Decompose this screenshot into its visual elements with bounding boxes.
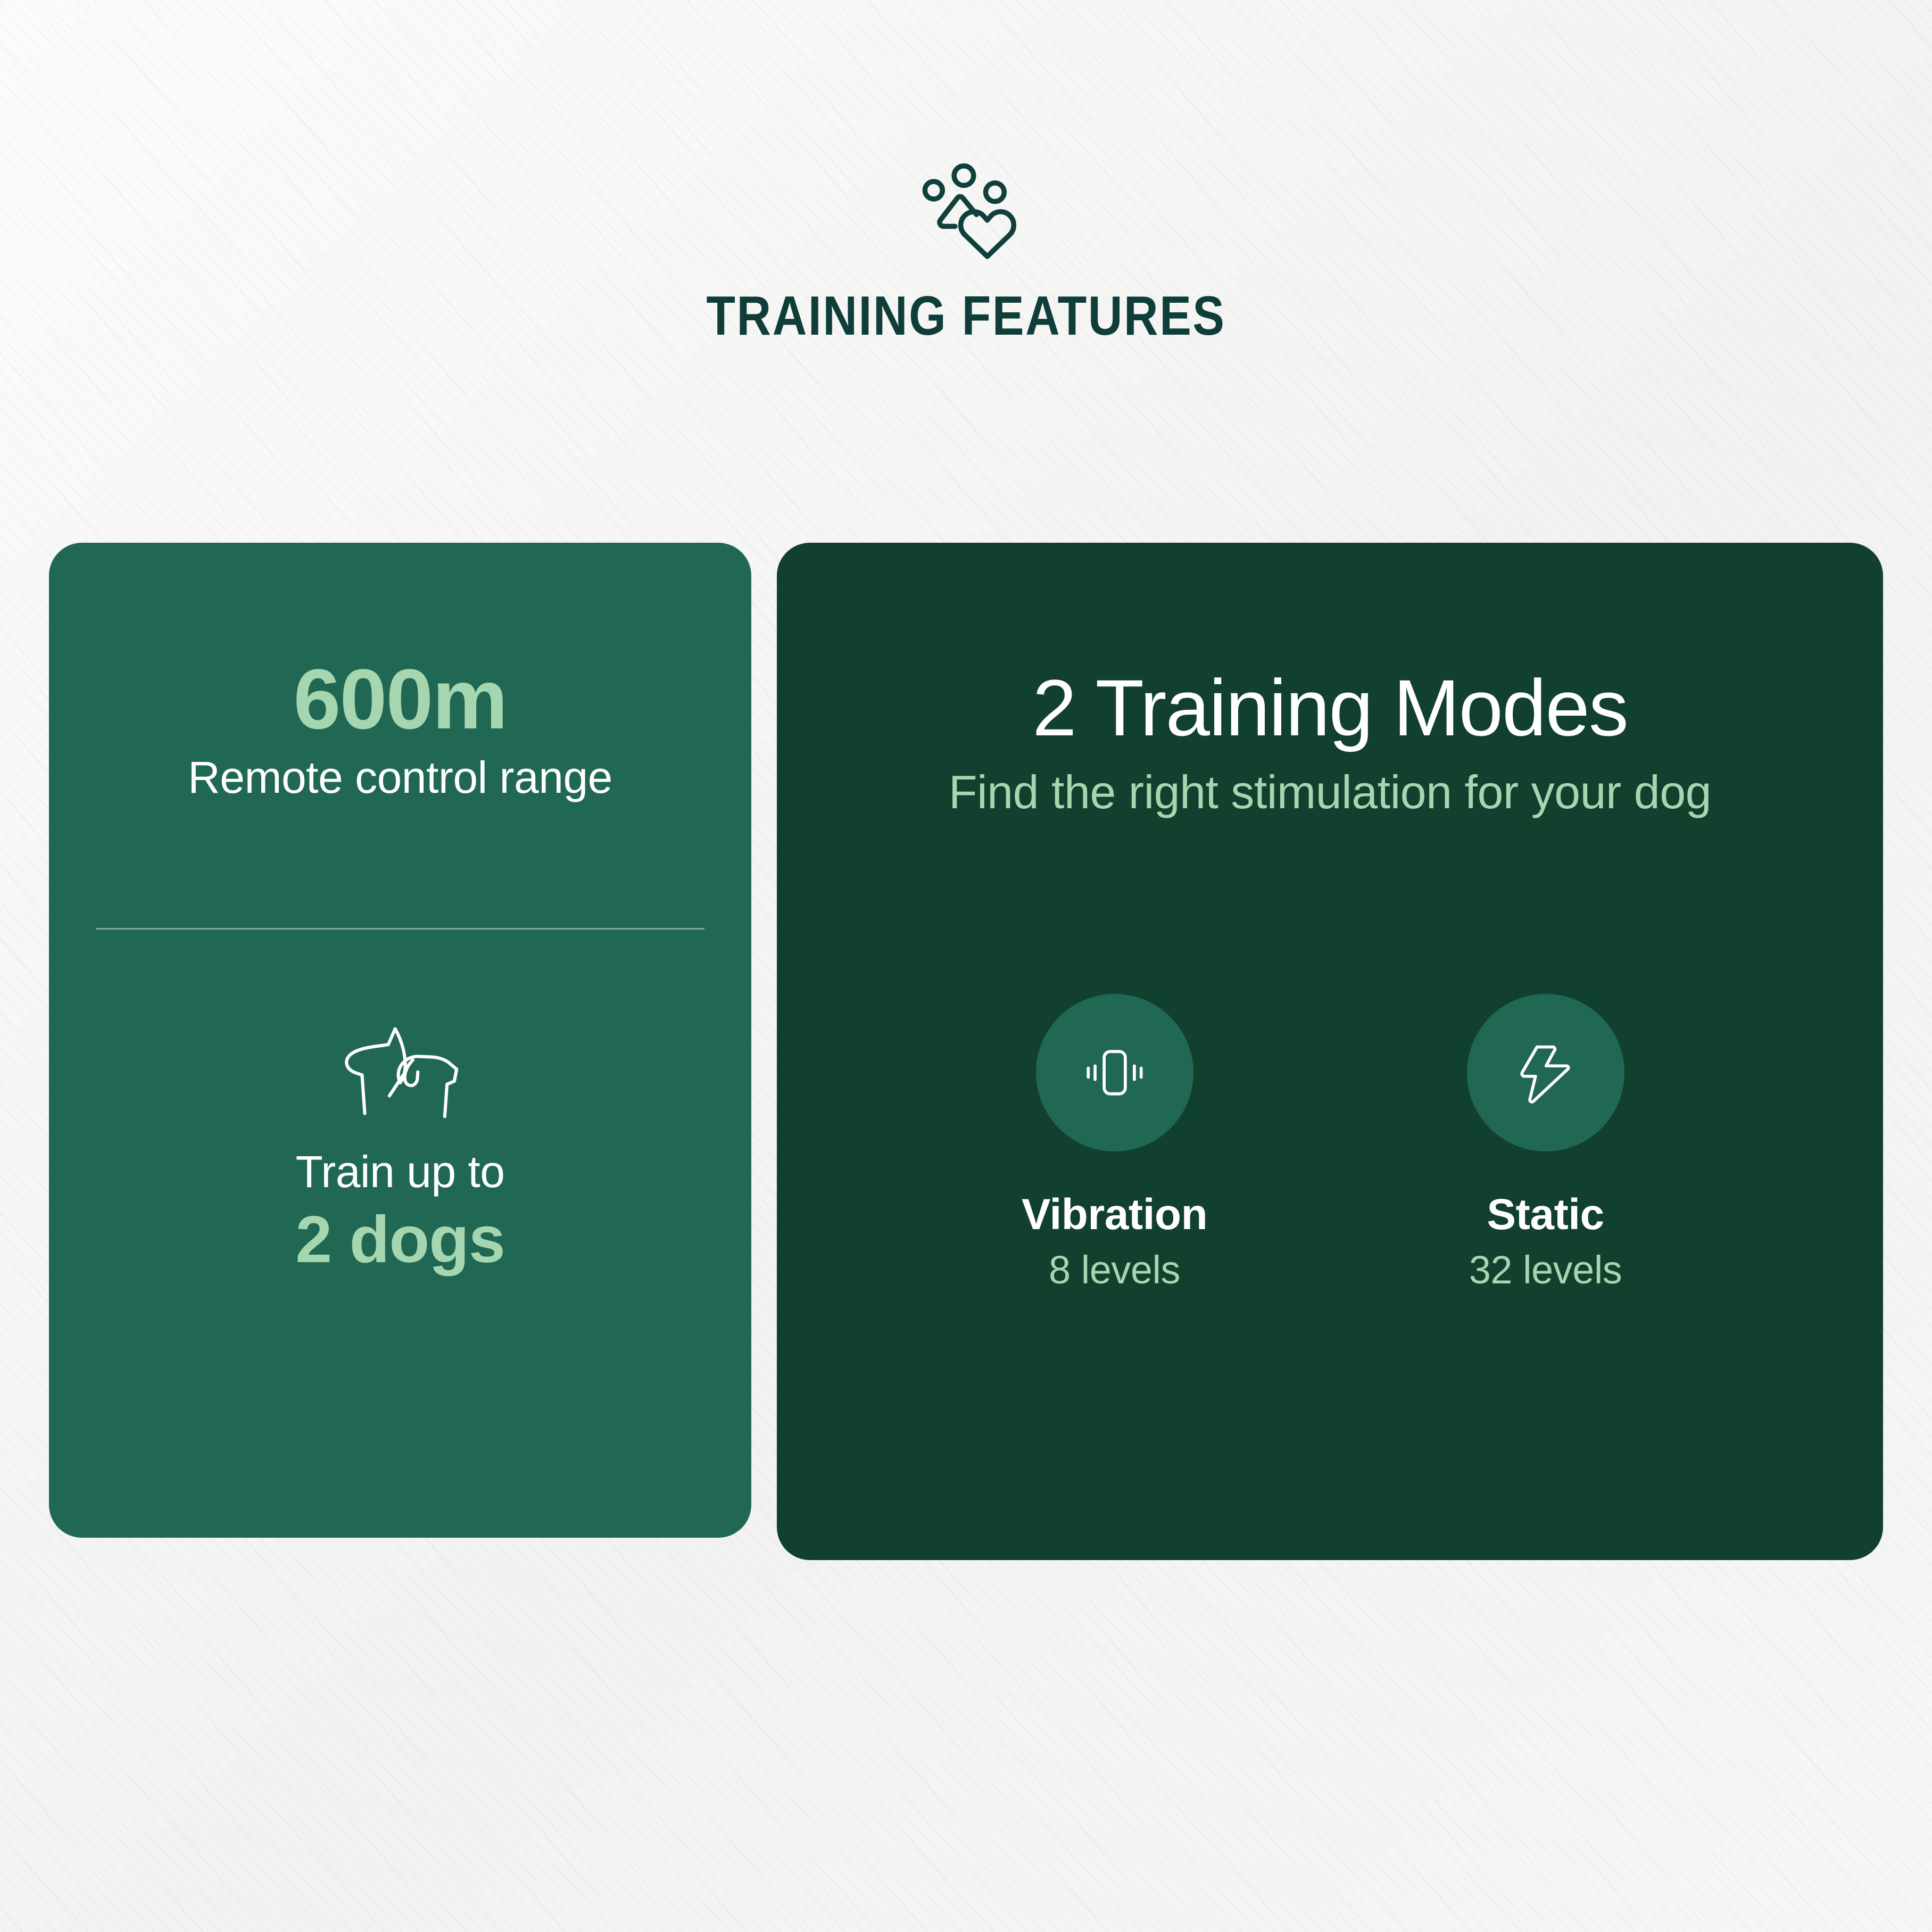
lightning-bolt-icon [1508, 1035, 1583, 1110]
training-features-page: TRAINING FEATURES 600m Remote control ra… [0, 0, 1932, 1932]
cat-dog-icon [323, 1024, 477, 1123]
mode-vibration: Vibration 8 levels [976, 994, 1253, 1292]
feature-cards: 600m Remote control range Train up to 2 … [49, 543, 1883, 1560]
range-label: Remote control range [49, 750, 751, 806]
range-stat-block: 600m Remote control range [49, 656, 751, 806]
pets-caption: Train up to [49, 1147, 751, 1196]
modes-list: Vibration 8 levels Static 32 levels [777, 994, 1883, 1292]
mode-static: Static 32 levels [1407, 994, 1684, 1292]
range-value: 600m [49, 656, 751, 742]
modes-subtitle: Find the right stimulation for your dog [777, 763, 1883, 821]
card-training-modes: 2 Training Modes Find the right stimulat… [777, 543, 1883, 1560]
pets-count: 2 dogs [49, 1204, 751, 1276]
modes-title: 2 Training Modes [777, 666, 1883, 750]
static-icon-circle [1467, 994, 1624, 1151]
mode-name: Vibration [976, 1191, 1253, 1239]
vibration-phone-icon [1077, 1035, 1152, 1110]
card-remote-range: 600m Remote control range Train up to 2 … [49, 543, 751, 1538]
mode-levels: 32 levels [1407, 1248, 1684, 1291]
card-divider [96, 928, 704, 930]
page-title: TRAINING FEATURES [135, 288, 1797, 344]
mode-levels: 8 levels [976, 1248, 1253, 1291]
modes-header: 2 Training Modes Find the right stimulat… [777, 666, 1883, 821]
vibration-icon-circle [1036, 994, 1193, 1151]
paw-heart-icon [908, 160, 1025, 261]
pets-stat-block: Train up to 2 dogs [49, 1024, 751, 1276]
page-header: TRAINING FEATURES [0, 160, 1932, 344]
mode-name: Static [1407, 1191, 1684, 1239]
